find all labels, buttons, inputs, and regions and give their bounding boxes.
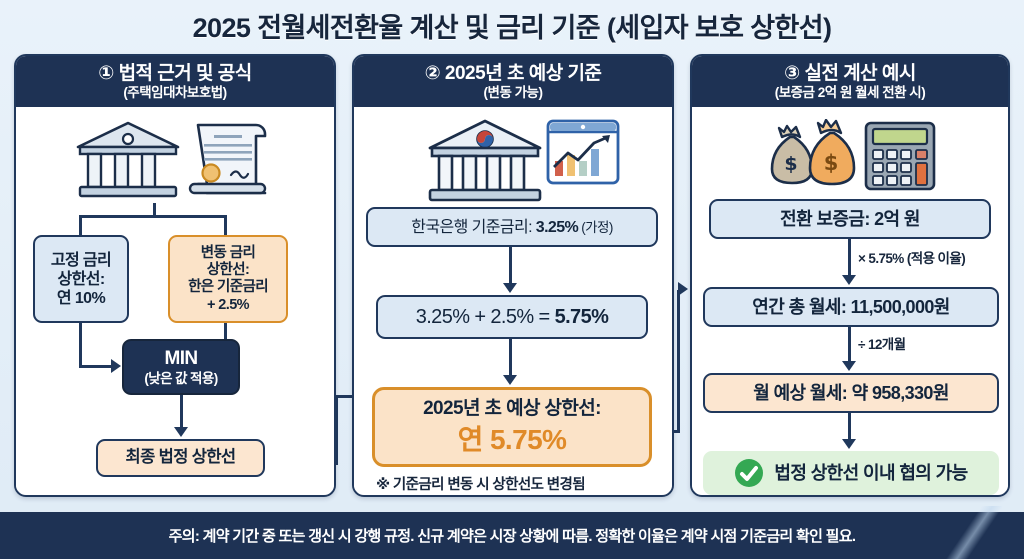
connector-p2-to-p3-arrow [678, 282, 688, 296]
expected-cap-value: 연 5.75% [458, 423, 567, 457]
deposit-box: 전환 보증금: 2억 원 [709, 199, 991, 239]
panel2-subtitle: (변동 가능) [358, 85, 668, 101]
p3-arrow1-head [842, 275, 856, 285]
p1-split-bar [79, 215, 227, 218]
final-legal-cap-box: 최종 법정 상한선 [96, 439, 265, 477]
min-sublabel: (낮은 값 적용) [144, 371, 217, 387]
footer-sheen-decoration [944, 506, 1002, 559]
panel1-illustration [68, 117, 288, 208]
panel-legal-basis: ① 법적 근거 및 공식 (주택임대차보호법) [14, 54, 336, 497]
p1-left-arrow [111, 359, 121, 373]
money-bags-icon: $ $ [772, 120, 854, 184]
monthly-rent-label: 월 예상 월세: [753, 383, 851, 403]
p2-arrow1-head [503, 283, 517, 293]
panel2-footnote: ※ 기준금리 변동 시 상한선도 변경됨 [376, 473, 585, 494]
sum-label: 3.25% + 2.5% = [416, 306, 555, 328]
p1-left-in [79, 365, 113, 368]
variable-cap-line-4: + 2.5% [207, 297, 249, 314]
p1-split-right [224, 215, 227, 237]
p3-arrow3-line [848, 413, 851, 441]
calculator-icon [866, 123, 934, 189]
annual-rent-value: 11,500,000원 [851, 297, 950, 317]
infographic-canvas: 2025 전월세전환율 계산 및 금리 기준 (세입자 보호 상한선) ① 법적… [0, 0, 1024, 559]
deposit-value: 2억 원 [874, 209, 920, 229]
connector-p2-to-p3-v [677, 290, 680, 433]
rate-sum-box: 3.25% + 2.5% = 5.75% [376, 295, 648, 339]
expected-cap-box: 2025년 초 예상 상한선: 연 5.75% [372, 387, 652, 467]
p3-arrow3-head [842, 439, 856, 449]
panel2-body: 한국은행 기준금리: 3.25% (가정) 3.25% + 2.5% = 5.7… [354, 107, 672, 491]
svg-text:$: $ [824, 151, 839, 175]
p3-arrow1-line [848, 239, 851, 277]
annual-rent-label: 연간 총 월세: [752, 297, 850, 317]
bok-base-rate-box: 한국은행 기준금리: 3.25% (가정) [366, 207, 658, 247]
apply-rate-note: × 5.75% (적용 이율) [858, 247, 965, 267]
footer-warning-text: 주의: 계약 기간 중 또는 갱신 시 강행 규정. 신규 계약은 시장 상황에… [169, 525, 856, 546]
panel3-illustration: $ $ [760, 119, 950, 198]
bok-rate-label: 한국은행 기준금리: [411, 219, 536, 236]
panel1-body: 고정 금리 상한선: 연 10% 변동 금리 상한선: 한은 기준금리 + 2.… [16, 107, 334, 491]
variable-cap-line-2: 상한선: [207, 262, 249, 279]
p3-arrow2-head [842, 361, 856, 371]
panel1-header: ① 법적 근거 및 공식 (주택임대차보호법) [16, 56, 334, 107]
fixed-rate-cap-box: 고정 금리 상한선: 연 10% [33, 235, 129, 323]
panel3-title: ③ 실전 계산 예시 [696, 63, 1004, 85]
fixed-cap-line-3: 연 10% [57, 289, 105, 308]
panel2-title: ② 2025년 초 예상 기준 [358, 63, 668, 85]
bank-of-korea-icon [430, 121, 540, 200]
annual-rent-box: 연간 총 월세: 11,500,000원 [703, 287, 999, 327]
panel3-header: ③ 실전 계산 예시 (보증금 2억 원 월세 전환 시) [692, 56, 1008, 107]
within-cap-label: 법정 상한선 이내 협의 가능 [774, 463, 967, 485]
svg-text:$: $ [784, 153, 797, 175]
p1-split-left [79, 215, 82, 237]
check-circle-icon [734, 458, 764, 488]
p1-left-down [79, 323, 82, 367]
min-label: MIN [164, 348, 197, 371]
min-operator-box: MIN (낮은 값 적용) [122, 339, 240, 395]
bank-building-icon [78, 123, 178, 196]
variable-cap-line-1: 변동 금리 [201, 245, 255, 262]
fixed-cap-line-1: 고정 금리 [51, 251, 111, 270]
p2-arrow2-line [509, 339, 512, 377]
divide-months-note: ÷ 12개월 [858, 333, 905, 353]
panel1-title: ① 법적 근거 및 공식 [20, 63, 330, 85]
panel2-header: ② 2025년 초 예상 기준 (변동 가능) [354, 56, 672, 107]
panel3-subtitle: (보증금 2억 원 월세 전환 시) [696, 85, 1004, 101]
variable-rate-cap-box: 변동 금리 상한선: 한은 기준금리 + 2.5% [168, 235, 288, 323]
bok-rate-suffix: (가정) [578, 220, 613, 235]
p3-arrow2-line [848, 327, 851, 363]
monthly-rent-box: 월 예상 월세: 약 958,330원 [703, 373, 999, 413]
growth-chart-icon [548, 121, 618, 183]
footer-warning-bar: 주의: 계약 기간 중 또는 갱신 시 강행 규정. 신규 계약은 시장 상황에… [0, 512, 1024, 559]
panel2-illustration [422, 115, 622, 212]
p2-arrow1-line [509, 247, 512, 285]
p1-min-to-final-line [180, 395, 183, 429]
legal-scroll-icon [190, 125, 265, 193]
page-title: 2025 전월세전환율 계산 및 금리 기준 (세입자 보호 상한선) [0, 6, 1024, 45]
variable-cap-line-3: 한은 기준금리 [188, 279, 268, 296]
panel-worked-example: ③ 실전 계산 예시 (보증금 2억 원 월세 전환 시) $ $ [690, 54, 1010, 497]
deposit-label: 전환 보증금: [780, 209, 874, 229]
within-cap-result-box: 법정 상한선 이내 협의 가능 [703, 451, 999, 495]
bok-rate-value: 3.25% [536, 219, 578, 236]
expected-cap-label: 2025년 초 예상 상한선: [423, 398, 601, 421]
final-cap-label: 최종 법정 상한선 [125, 448, 235, 468]
panel1-subtitle: (주택임대차보호법) [20, 85, 330, 101]
monthly-rent-value: 약 958,330원 [852, 383, 949, 403]
panel3-body: $ $ [692, 107, 1008, 491]
sum-value: 5.75% [555, 306, 609, 328]
panel-expected-standard: ② 2025년 초 예상 기준 (변동 가능) [352, 54, 674, 497]
p1-min-to-final-arrow [174, 427, 188, 437]
fixed-cap-line-2: 상한선: [57, 270, 104, 289]
p2-arrow2-head [503, 375, 517, 385]
